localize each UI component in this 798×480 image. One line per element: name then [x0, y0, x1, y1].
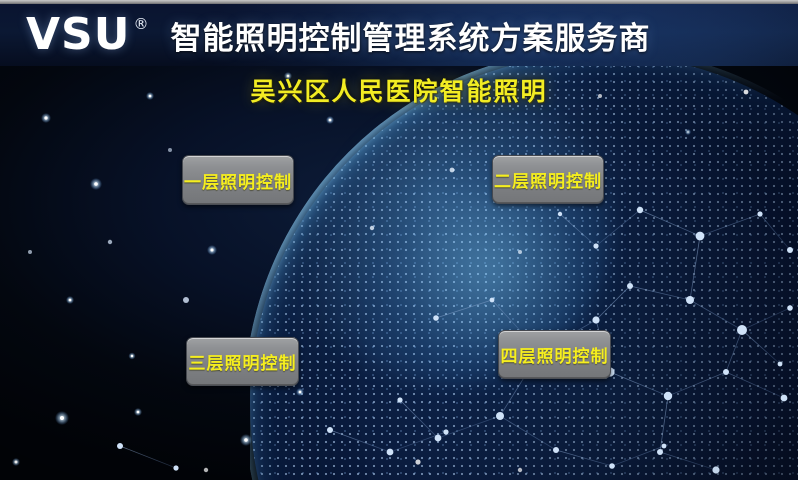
floor-1-lighting-control-label: 一层照明控制	[184, 168, 292, 193]
subtitle: 吴兴区人民医院智能照明	[0, 72, 798, 108]
floor-2-lighting-control-button[interactable]: 二层照明控制	[492, 155, 604, 204]
vsu-logo: VSU ®	[26, 13, 148, 57]
registered-trademark-icon: ®	[133, 17, 148, 32]
floor-2-lighting-control-label: 二层照明控制	[494, 167, 602, 192]
brand-text: VSU	[26, 13, 130, 57]
window-chrome-strip	[0, 0, 798, 4]
header: VSU ® 智能照明控制管理系统方案服务商	[0, 4, 798, 66]
floor-3-lighting-control-button[interactable]: 三层照明控制	[186, 337, 299, 386]
floor-4-lighting-control-button[interactable]: 四层照明控制	[498, 330, 611, 379]
page-title: 智能照明控制管理系统方案服务商	[170, 13, 650, 58]
floor-4-lighting-control-label: 四层照明控制	[501, 342, 609, 367]
digital-globe	[250, 54, 798, 480]
application-window: VSU ® 智能照明控制管理系统方案服务商 吴兴区人民医院智能照明 一层照明控制…	[0, 0, 798, 480]
floor-3-lighting-control-label: 三层照明控制	[189, 349, 297, 374]
floor-1-lighting-control-button[interactable]: 一层照明控制	[182, 155, 294, 205]
